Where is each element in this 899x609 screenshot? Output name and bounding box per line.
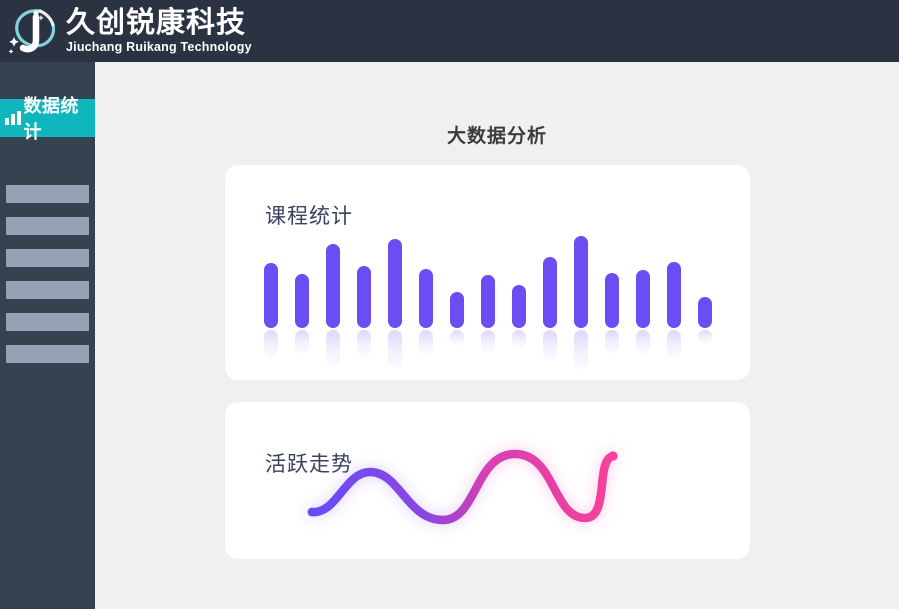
brand-text: 久创锐康科技 Jiuchang Ruikang Technology (66, 8, 252, 55)
bar-chart-bar-reflection (450, 330, 464, 345)
sidebar-item-label: 数据统计 (23, 92, 95, 144)
bar-chart-bar-reflection (605, 330, 619, 353)
bar-chart-bar-reflection (698, 330, 712, 343)
bar-chart-bar-reflection (667, 330, 681, 358)
bar-chart-bar-reflection (481, 330, 495, 352)
bar-chart-bar (574, 236, 588, 328)
bar-chart-bar (543, 257, 557, 328)
bar-chart-bar (698, 297, 712, 328)
bar-chart-bar-reflection (543, 330, 557, 360)
card-course-stats: 课程统计 (225, 165, 750, 380)
line-chart[interactable] (225, 402, 750, 559)
bar-chart-column[interactable] (357, 165, 371, 380)
app-header: 久创锐康科技 Jiuchang Ruikang Technology (0, 0, 899, 62)
bar-chart-bar-reflection (326, 330, 340, 365)
bar-chart-column[interactable] (295, 165, 309, 380)
bar-chart-bar-reflection (357, 330, 371, 356)
main-content: 大数据分析 课程统计 活跃走势 (95, 62, 899, 609)
bar-chart-bar (295, 274, 309, 328)
bar-chart-column[interactable] (543, 165, 557, 380)
bar-chart-column[interactable] (450, 165, 464, 380)
bar-chart-icon (5, 111, 21, 125)
sidebar-item-data-statistics[interactable]: 数据统计 (0, 99, 95, 137)
bar-chart-column[interactable] (264, 165, 278, 380)
bar-chart-column[interactable] (388, 165, 402, 380)
bar-chart-bar-reflection (388, 330, 402, 368)
bar-chart-bar (512, 285, 526, 328)
bar-chart-column[interactable] (326, 165, 340, 380)
bar-chart-column[interactable] (667, 165, 681, 380)
sidebar-placeholder-item[interactable] (6, 281, 89, 299)
bar-chart-bar (326, 244, 340, 328)
bar-chart-bar-reflection (419, 330, 433, 355)
bar-chart-column[interactable] (419, 165, 433, 380)
sidebar-placeholder-item[interactable] (6, 217, 89, 235)
bar-chart-bar-reflection (295, 330, 309, 353)
card-activity-trend: 活跃走势 (225, 402, 750, 559)
bar-chart-bar-reflection (636, 330, 650, 354)
bar-chart-column[interactable] (574, 165, 588, 380)
bar-chart-bar (264, 263, 278, 328)
bar-chart-bar (636, 270, 650, 328)
sidebar-placeholder-item[interactable] (6, 313, 89, 331)
bar-chart-bar (419, 269, 433, 328)
bar-chart-bar (388, 239, 402, 328)
sidebar-placeholder-item[interactable] (6, 345, 89, 363)
brand-name-en: Jiuchang Ruikang Technology (66, 40, 252, 55)
bar-chart-column[interactable] (605, 165, 619, 380)
bar-chart-bar-reflection (574, 330, 588, 369)
bar-chart-column[interactable] (698, 165, 712, 380)
brand-name-cn: 久创锐康科技 (66, 8, 252, 39)
brand-logo-icon (4, 4, 62, 60)
bar-chart-bar (357, 266, 371, 328)
sidebar: 数据统计 (0, 62, 95, 609)
bar-chart-column[interactable] (636, 165, 650, 380)
bar-chart-bar (605, 273, 619, 328)
bar-chart-bar-reflection (264, 330, 278, 357)
bar-chart-bar (450, 292, 464, 328)
bar-chart-bar-reflection (512, 330, 526, 348)
bar-chart-column[interactable] (512, 165, 526, 380)
bar-chart-bar (481, 275, 495, 328)
page-title: 大数据分析 (95, 121, 899, 148)
bar-chart-bar (667, 262, 681, 329)
app-root: 久创锐康科技 Jiuchang Ruikang Technology 数据统计 … (0, 0, 899, 609)
sidebar-placeholder-item[interactable] (6, 185, 89, 203)
bar-chart-column[interactable] (481, 165, 495, 380)
bar-chart[interactable] (225, 165, 750, 380)
sidebar-placeholder-item[interactable] (6, 249, 89, 267)
